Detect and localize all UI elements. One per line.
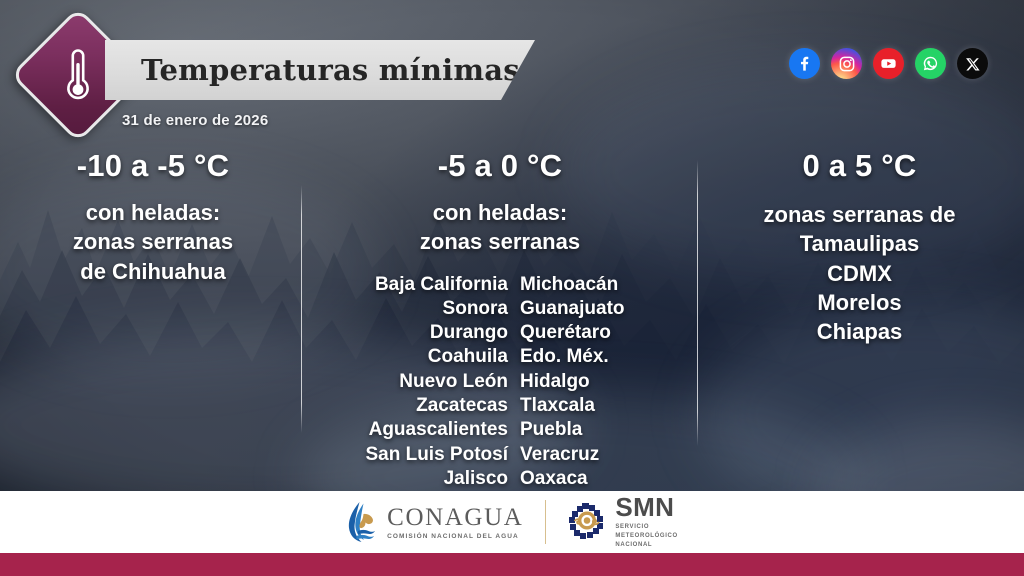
conagua-name: CONAGUA <box>387 505 523 530</box>
state-name: Veracruz <box>520 443 670 467</box>
smn-tagline: SERVICIO METEOROLÓGICO NACIONAL <box>615 523 677 549</box>
state-name: Michoacán <box>520 273 670 297</box>
infographic-canvas: Temperaturas mínimas 31 de enero de 2026 <box>0 0 1024 576</box>
smn-name: SMN <box>615 494 677 520</box>
footer-logos: CONAGUA COMISIÓN NACIONAL DEL AGUA <box>0 491 1024 553</box>
temperature-range: 0 a 5 °C <box>712 148 1007 184</box>
zone-description: con heladas: zonas serranas de Chihuahua <box>18 198 288 286</box>
whatsapp-icon[interactable] <box>915 48 946 79</box>
page-title: Temperaturas mínimas <box>141 53 520 87</box>
state-list-right: MichoacánGuanajuatoQuerétaroEdo. Méx.Hid… <box>520 273 670 492</box>
temperature-column-3: 0 a 5 °C zonas serranas de Tamaulipas CD… <box>712 148 1007 346</box>
state-list-left: Baja CaliforniaSonoraDurangoCoahuilaNuev… <box>330 273 508 492</box>
title-banner: Temperaturas mínimas <box>105 40 535 100</box>
instagram-icon[interactable] <box>831 48 862 79</box>
temperature-column-1: -10 a -5 °C con heladas: zonas serranas … <box>18 148 288 286</box>
temperature-range: -10 a -5 °C <box>18 148 288 184</box>
temperature-range: -5 a 0 °C <box>315 148 685 184</box>
state-name: Querétaro <box>520 321 670 345</box>
state-name: Puebla <box>520 418 670 442</box>
footer-separator <box>545 500 546 544</box>
state-name: San Luis Potosí <box>330 443 508 467</box>
state-name: Coahuila <box>330 345 508 369</box>
state-name: Guanajuato <box>520 297 670 321</box>
x-twitter-icon[interactable] <box>957 48 988 79</box>
state-name: Hidalgo <box>520 370 670 394</box>
youtube-icon[interactable] <box>873 48 904 79</box>
header: Temperaturas mínimas 31 de enero de 2026 <box>0 0 1024 145</box>
state-name: Sonora <box>330 297 508 321</box>
state-name: Tlaxcala <box>520 394 670 418</box>
conagua-tagline: COMISIÓN NACIONAL DEL AGUA <box>387 533 523 540</box>
state-lists: Baja CaliforniaSonoraDurangoCoahuilaNuev… <box>315 273 685 492</box>
temperature-column-2: -5 a 0 °C con heladas: zonas serranas Ba… <box>315 148 685 491</box>
zone-description: zonas serranas de Tamaulipas CDMX Morelo… <box>712 200 1007 346</box>
state-name: Jalisco <box>330 467 508 491</box>
zone-description: con heladas: zonas serranas <box>315 198 685 257</box>
state-name: Zacatecas <box>330 394 508 418</box>
state-name: Oaxaca <box>520 467 670 491</box>
temperature-columns: -10 a -5 °C con heladas: zonas serranas … <box>0 148 1024 488</box>
smn-logo: SMN SERVICIO METEOROLÓGICO NACIONAL <box>568 494 677 549</box>
footer-accent-bar <box>0 553 1024 576</box>
state-name: Edo. Méx. <box>520 345 670 369</box>
smn-aztec-spiral-icon <box>568 502 606 542</box>
conagua-wave-eagle-icon <box>346 500 378 544</box>
state-name: Aguascalientes <box>330 418 508 442</box>
facebook-icon[interactable] <box>789 48 820 79</box>
social-links <box>789 48 988 79</box>
conagua-logo: CONAGUA COMISIÓN NACIONAL DEL AGUA <box>346 500 523 544</box>
forecast-date: 31 de enero de 2026 <box>122 112 268 129</box>
state-name: Baja California <box>330 273 508 297</box>
state-name: Nuevo León <box>330 370 508 394</box>
state-name: Durango <box>330 321 508 345</box>
